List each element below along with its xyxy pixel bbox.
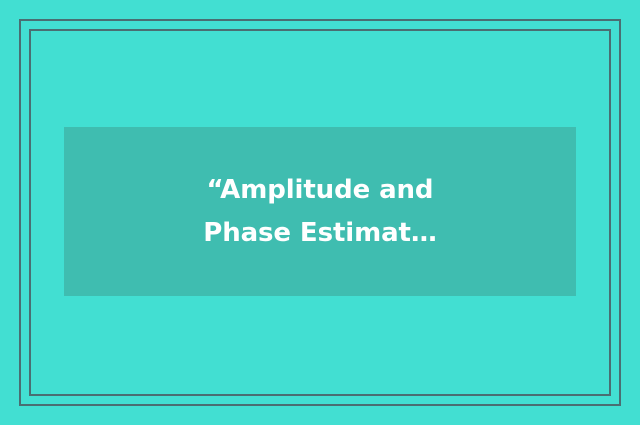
quote-panel: “Amplitude and Phase Estimat… bbox=[64, 127, 576, 296]
quote-slide: “Amplitude and Phase Estimat… bbox=[0, 0, 640, 425]
quote-text: “Amplitude and Phase Estimat… bbox=[203, 169, 437, 253]
